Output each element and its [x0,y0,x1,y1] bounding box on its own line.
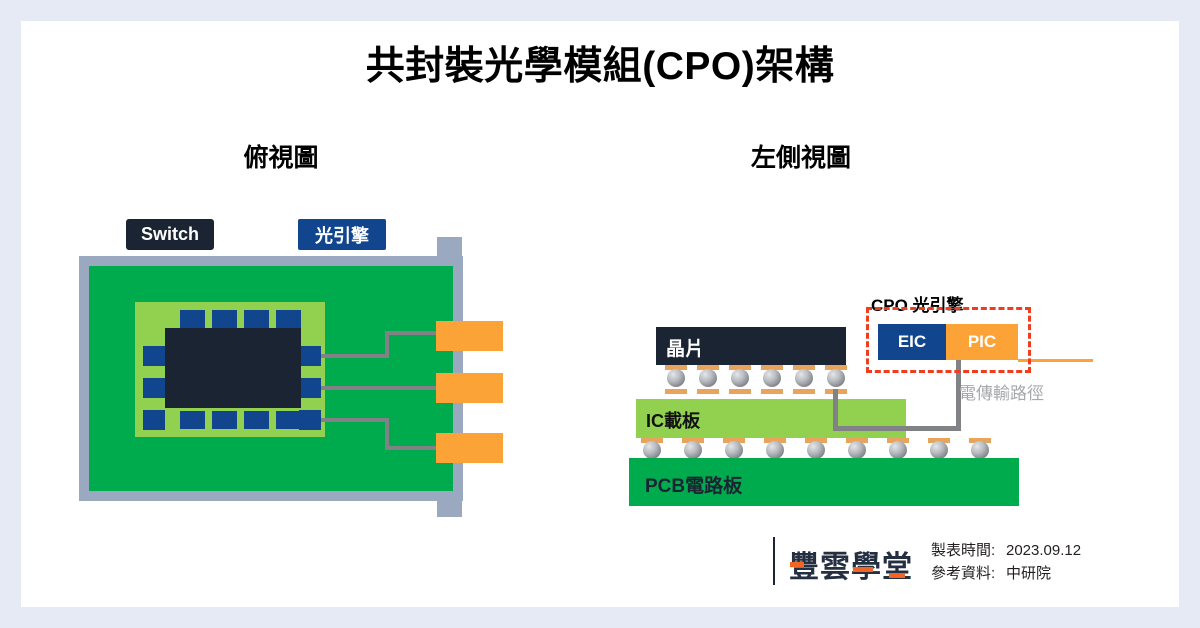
ball-sphere [766,441,784,459]
accent-bar [889,573,905,578]
solder-ball [697,365,719,395]
pad [276,310,301,328]
meta-key: 參考資料: [931,562,1006,585]
pad [180,310,205,328]
optical-connector [436,321,503,351]
ball-sphere [827,369,845,387]
accent-bar [853,567,873,572]
label-optical-engine: 光引擎 [298,219,386,250]
ball-sphere [725,441,743,459]
ball-sphere [667,369,685,387]
electrical-trace [833,426,961,431]
ball-pad-bottom [665,389,687,394]
ball-sphere [699,369,717,387]
pad [143,410,165,430]
solder-ball [793,365,815,395]
trace-segment [321,386,441,390]
optical-connector [436,433,503,463]
accent-bar [790,562,804,567]
ball-sphere [643,441,661,459]
ball-sphere [763,369,781,387]
trace-segment [321,354,389,358]
pad [212,411,237,429]
meta-value: 中研院 [1006,562,1051,585]
ball-pad-bottom [761,389,783,394]
footer-divider [773,537,775,585]
die-block: 晶片 [656,327,846,365]
pad [143,346,165,366]
ball-pad-bottom [793,389,815,394]
top-view-diagram: Switch 光引擎 [21,21,541,607]
optical-connector [436,373,503,403]
footer: 豐雲學堂 製表時間: 2023.09.12 參考資料: 中研院 [21,531,1179,591]
pad-connected [299,378,321,398]
ball-pad-bottom [729,389,751,394]
ball-sphere [848,441,866,459]
pad-connected [299,410,321,430]
pcb-board-side-view: PCB電路板 [629,458,1019,506]
meta-row: 製表時間: 2023.09.12 [931,539,1081,562]
solder-ball [729,365,751,395]
ball-sphere [971,441,989,459]
solder-ball [665,365,687,395]
pad-connected [299,346,321,366]
pad [212,310,237,328]
cpo-engine-highlight-box [866,307,1031,373]
pad [244,411,269,429]
brand-logo-accents [789,542,919,582]
solder-ball [761,365,783,395]
pad [180,411,205,429]
slide-card: 共封裝光學模組(CPO)架構 俯視圖 左側視圖 Switch 光引擎 [21,21,1179,607]
trace-segment [385,331,441,335]
ball-sphere [731,369,749,387]
ball-sphere [684,441,702,459]
ball-pad-bottom [697,389,719,394]
label-electrical-path: 電傳輸路徑 [959,379,1044,404]
trace-segment [321,418,389,422]
ic-carrier-block: IC載板 [636,399,906,438]
meta-key: 製表時間: [931,539,1006,562]
pcb-board-label: PCB電路板 [645,471,742,498]
pad [276,411,301,429]
trace-segment [385,331,389,358]
meta-value: 2023.09.12 [1006,539,1081,562]
die-label: 晶片 [666,334,704,361]
label-switch: Switch [126,219,214,250]
electrical-trace [833,389,838,431]
pad [143,378,165,398]
ball-sphere [889,441,907,459]
pad [244,310,269,328]
switch-chip-top-view [165,328,301,408]
meta-row: 參考資料: 中研院 [931,562,1081,585]
ic-carrier-label: IC載板 [646,407,700,433]
side-view-diagram: CPO 光引擎 晶片 [541,21,1179,607]
ball-sphere [795,369,813,387]
trace-segment [385,446,441,450]
ball-sphere [930,441,948,459]
footer-meta: 製表時間: 2023.09.12 參考資料: 中研院 [931,539,1081,585]
ball-sphere [807,441,825,459]
